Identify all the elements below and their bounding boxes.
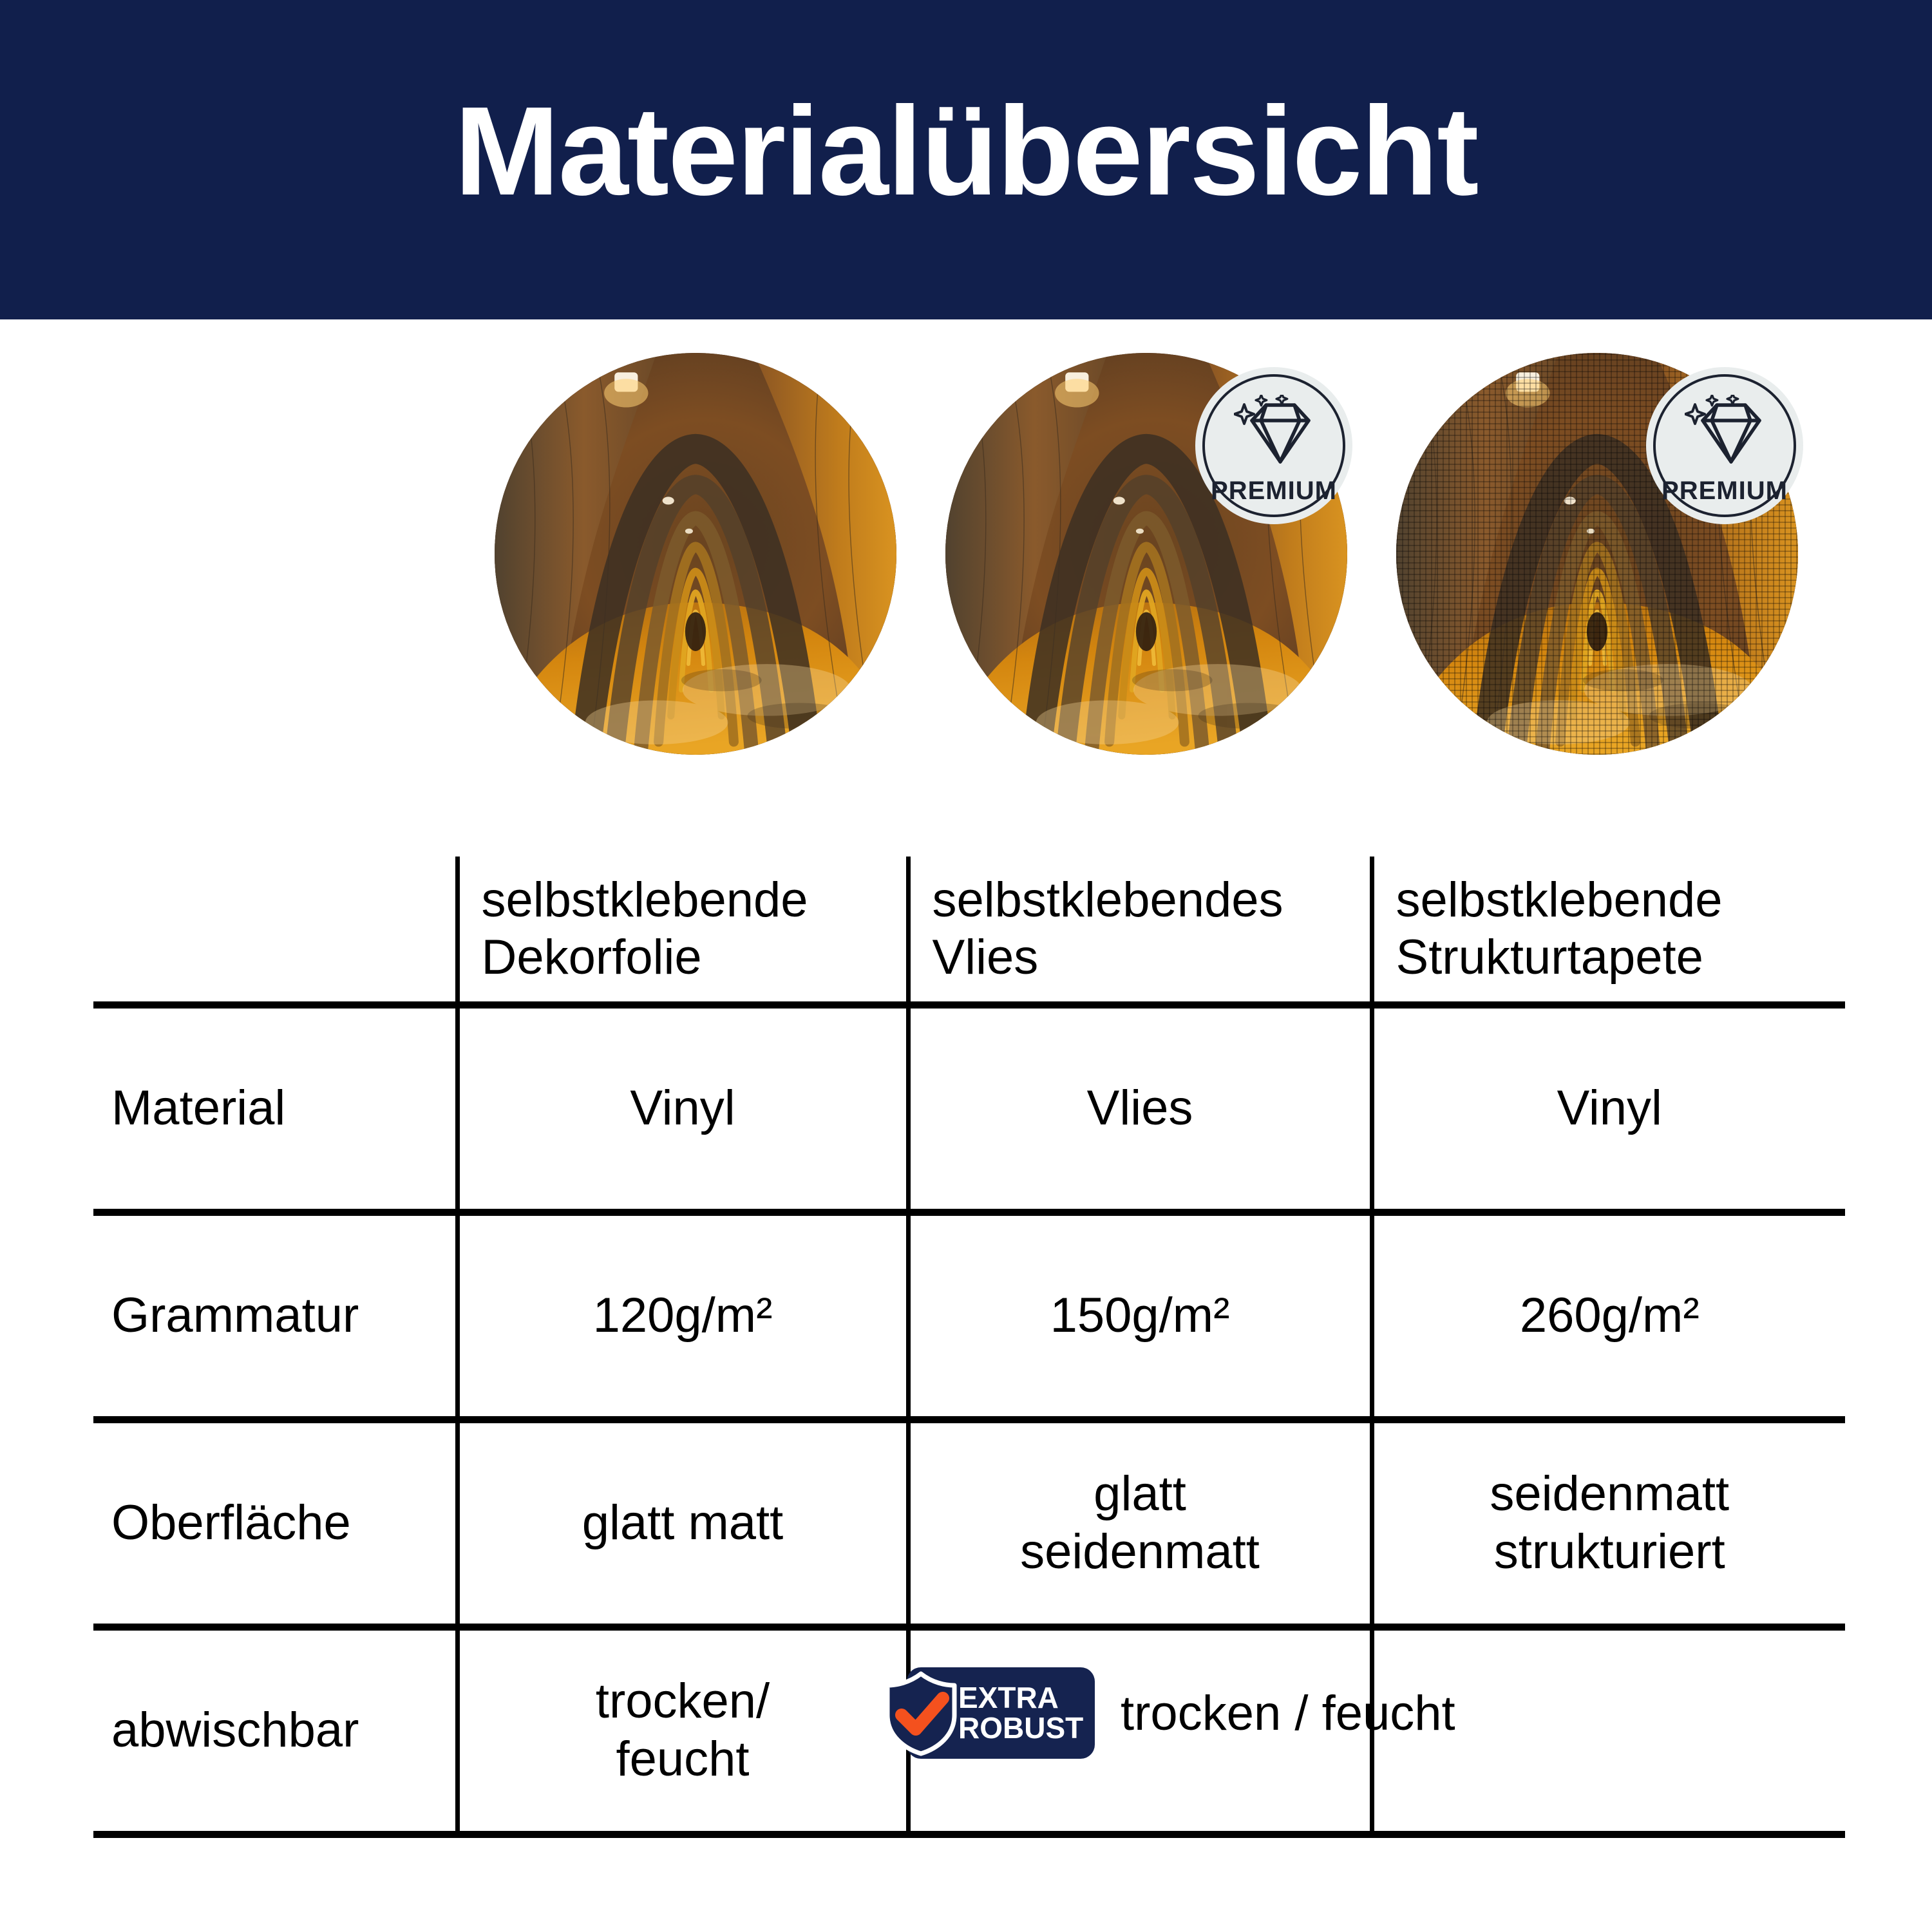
column-header-dekorfolie: selbstklebende Dekorfolie [457, 857, 908, 1005]
tunnel-photo [495, 353, 896, 755]
value-line-2: seidenmatt [921, 1523, 1359, 1581]
cell-abwischbar-strukturtapete-text: trocken / feucht [1121, 1665, 1700, 1761]
cell-oberflaeche-vlies: glatt seidenmatt [908, 1419, 1372, 1627]
shield-check-icon [882, 1671, 960, 1756]
header-empty-cell [93, 857, 457, 1005]
cell-grammatur-dekorfolie: 120g/m² [457, 1212, 908, 1419]
cell-material-vlies: Vlies [908, 1005, 1372, 1212]
cell-material-dekorfolie: Vinyl [457, 1005, 908, 1212]
value-line-1: glatt [921, 1465, 1359, 1523]
premium-label: PREMIUM [1211, 477, 1337, 506]
page-title: Materialübersicht [0, 0, 1932, 319]
value-line-2: strukturiert [1385, 1523, 1835, 1581]
row-label-oberflaeche: Oberfläche [93, 1419, 457, 1627]
table-row: Grammatur 120g/m² 150g/m² 260g/m² [93, 1212, 1845, 1419]
value-line-1: trocken/ [470, 1672, 896, 1730]
value-line-1: glatt matt [470, 1494, 896, 1552]
header-line-1: selbstklebende [1396, 871, 1835, 929]
cell-oberflaeche-strukturtapete: seidenmatt strukturiert [1372, 1419, 1845, 1627]
header-bar: Materialübersicht [0, 0, 1932, 319]
header-line-2: Vlies [933, 929, 1359, 987]
cell-grammatur-vlies: 150g/m² [908, 1212, 1372, 1419]
cell-oberflaeche-dekorfolie: glatt matt [457, 1419, 908, 1627]
robust-line-2: ROBUST [958, 1713, 1083, 1743]
header-line-1: selbstklebendes [933, 871, 1359, 929]
premium-badge: PREMIUM [1195, 367, 1352, 524]
tunnel-illustration [495, 353, 896, 755]
product-images-row: PREMIUM PREMIUM [0, 353, 1932, 765]
header-line-1: selbstklebende [482, 871, 896, 929]
cell-grammatur-strukturtapete: 260g/m² [1372, 1212, 1845, 1419]
robust-badge-text: EXTRA ROBUST [958, 1675, 1094, 1751]
premium-badge: PREMIUM [1646, 367, 1803, 524]
row-label-abwischbar: abwischbar [93, 1627, 457, 1834]
table-header-row: selbstklebende Dekorfolie selbstklebende… [93, 857, 1845, 1005]
cell-material-strukturtapete: Vinyl [1372, 1005, 1845, 1212]
table-row: Material Vinyl Vlies Vinyl [93, 1005, 1845, 1212]
row-label-material: Material [93, 1005, 457, 1212]
cell-abwischbar-dekorfolie: trocken/ feucht [457, 1627, 908, 1834]
value-line-1: seidenmatt [1385, 1465, 1835, 1523]
product-image-dekorfolie[interactable] [495, 353, 896, 755]
extra-robust-badge: EXTRA ROBUST [882, 1665, 1095, 1761]
row-label-grammatur: Grammatur [93, 1212, 457, 1419]
column-header-strukturtapete: selbstklebende Strukturtapete [1372, 857, 1845, 1005]
premium-label: PREMIUM [1662, 477, 1788, 506]
column-header-vlies: selbstklebendes Vlies [908, 857, 1372, 1005]
diamond-icon [1234, 395, 1314, 473]
header-line-2: Strukturtapete [1396, 929, 1835, 987]
table-row: Oberfläche glatt matt glatt seidenmatt s… [93, 1419, 1845, 1627]
value-line-2: feucht [470, 1730, 896, 1788]
header-line-2: Dekorfolie [482, 929, 896, 987]
robust-line-1: EXTRA [958, 1683, 1059, 1713]
diamond-icon [1685, 395, 1765, 473]
